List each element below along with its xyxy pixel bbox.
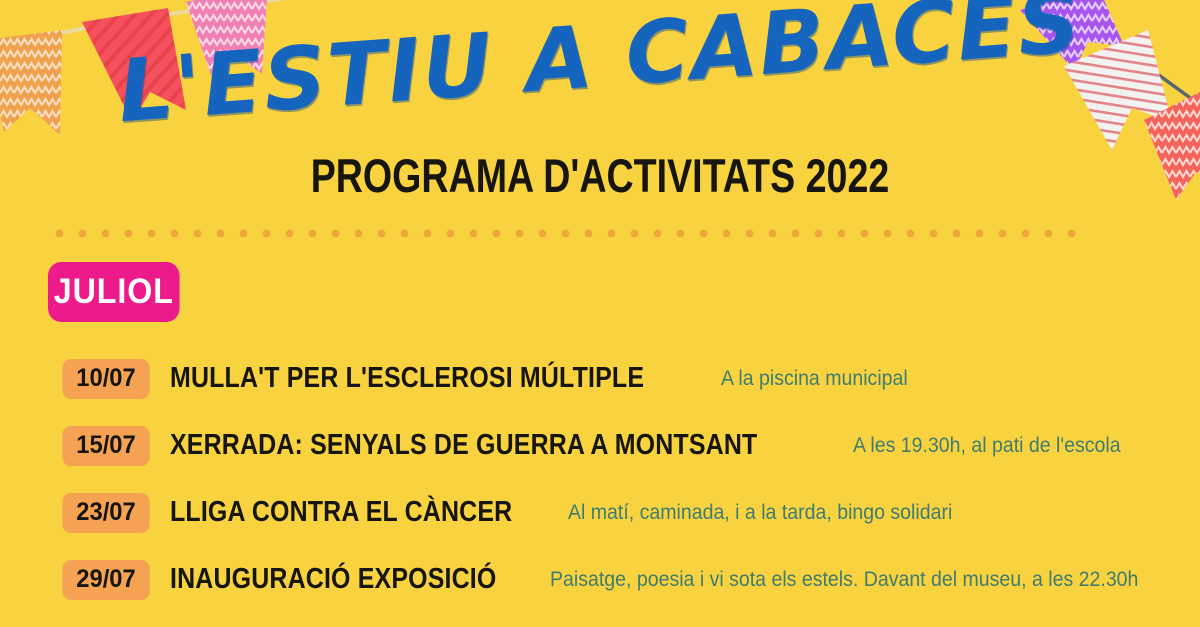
event-title: LLIGA CONTRA EL CÀNCER bbox=[170, 496, 512, 529]
event-row: 10/07 MULLA'T PER L'ESCLEROSI MÚLTIPLE A… bbox=[0, 345, 1200, 412]
event-date-badge: 23/07 bbox=[62, 493, 149, 533]
month-badge-label: JULIOL bbox=[54, 272, 174, 312]
event-list: 10/07 MULLA'T PER L'ESCLEROSI MÚLTIPLE A… bbox=[0, 345, 1200, 627]
month-badge-juliol: JULIOL bbox=[48, 262, 180, 322]
event-row-partial bbox=[0, 613, 1200, 627]
poster-canvas: L'ESTIU A CABACÉS PROGRAMA D'ACTIVITATS … bbox=[0, 0, 1200, 627]
page-subtitle: PROGRAMA D'ACTIVITATS 2022 bbox=[120, 148, 1080, 203]
event-row: 29/07 INAUGURACIÓ EXPOSICIÓ Paisatge, po… bbox=[0, 546, 1200, 613]
event-row: 23/07 LLIGA CONTRA EL CÀNCER Al matí, ca… bbox=[0, 479, 1200, 546]
page-title: L'ESTIU A CABACÉS bbox=[0, 0, 1200, 144]
event-description: Paisatge, poesia i vi sota els estels. D… bbox=[550, 568, 1138, 592]
event-date-badge: 10/07 bbox=[62, 359, 149, 399]
event-description: Al matí, caminada, i a la tarda, bingo s… bbox=[568, 501, 952, 525]
flag-coral-zigzag bbox=[1144, 86, 1200, 200]
event-description: A les 19.30h, al pati de l'escola bbox=[853, 434, 1121, 458]
event-title: MULLA'T PER L'ESCLEROSI MÚLTIPLE bbox=[170, 362, 644, 395]
event-date-badge: 29/07 bbox=[62, 560, 149, 600]
event-title: XERRADA: SENYALS DE GUERRA A MONTSANT bbox=[170, 429, 757, 462]
event-title: INAUGURACIÓ EXPOSICIÓ bbox=[170, 563, 496, 596]
event-date-badge: 15/07 bbox=[62, 426, 149, 466]
event-description: A la piscina municipal bbox=[721, 367, 908, 391]
title-block: L'ESTIU A CABACÉS bbox=[0, 14, 1200, 100]
dotted-divider bbox=[48, 228, 1080, 239]
event-row: 15/07 XERRADA: SENYALS DE GUERRA A MONTS… bbox=[0, 412, 1200, 479]
